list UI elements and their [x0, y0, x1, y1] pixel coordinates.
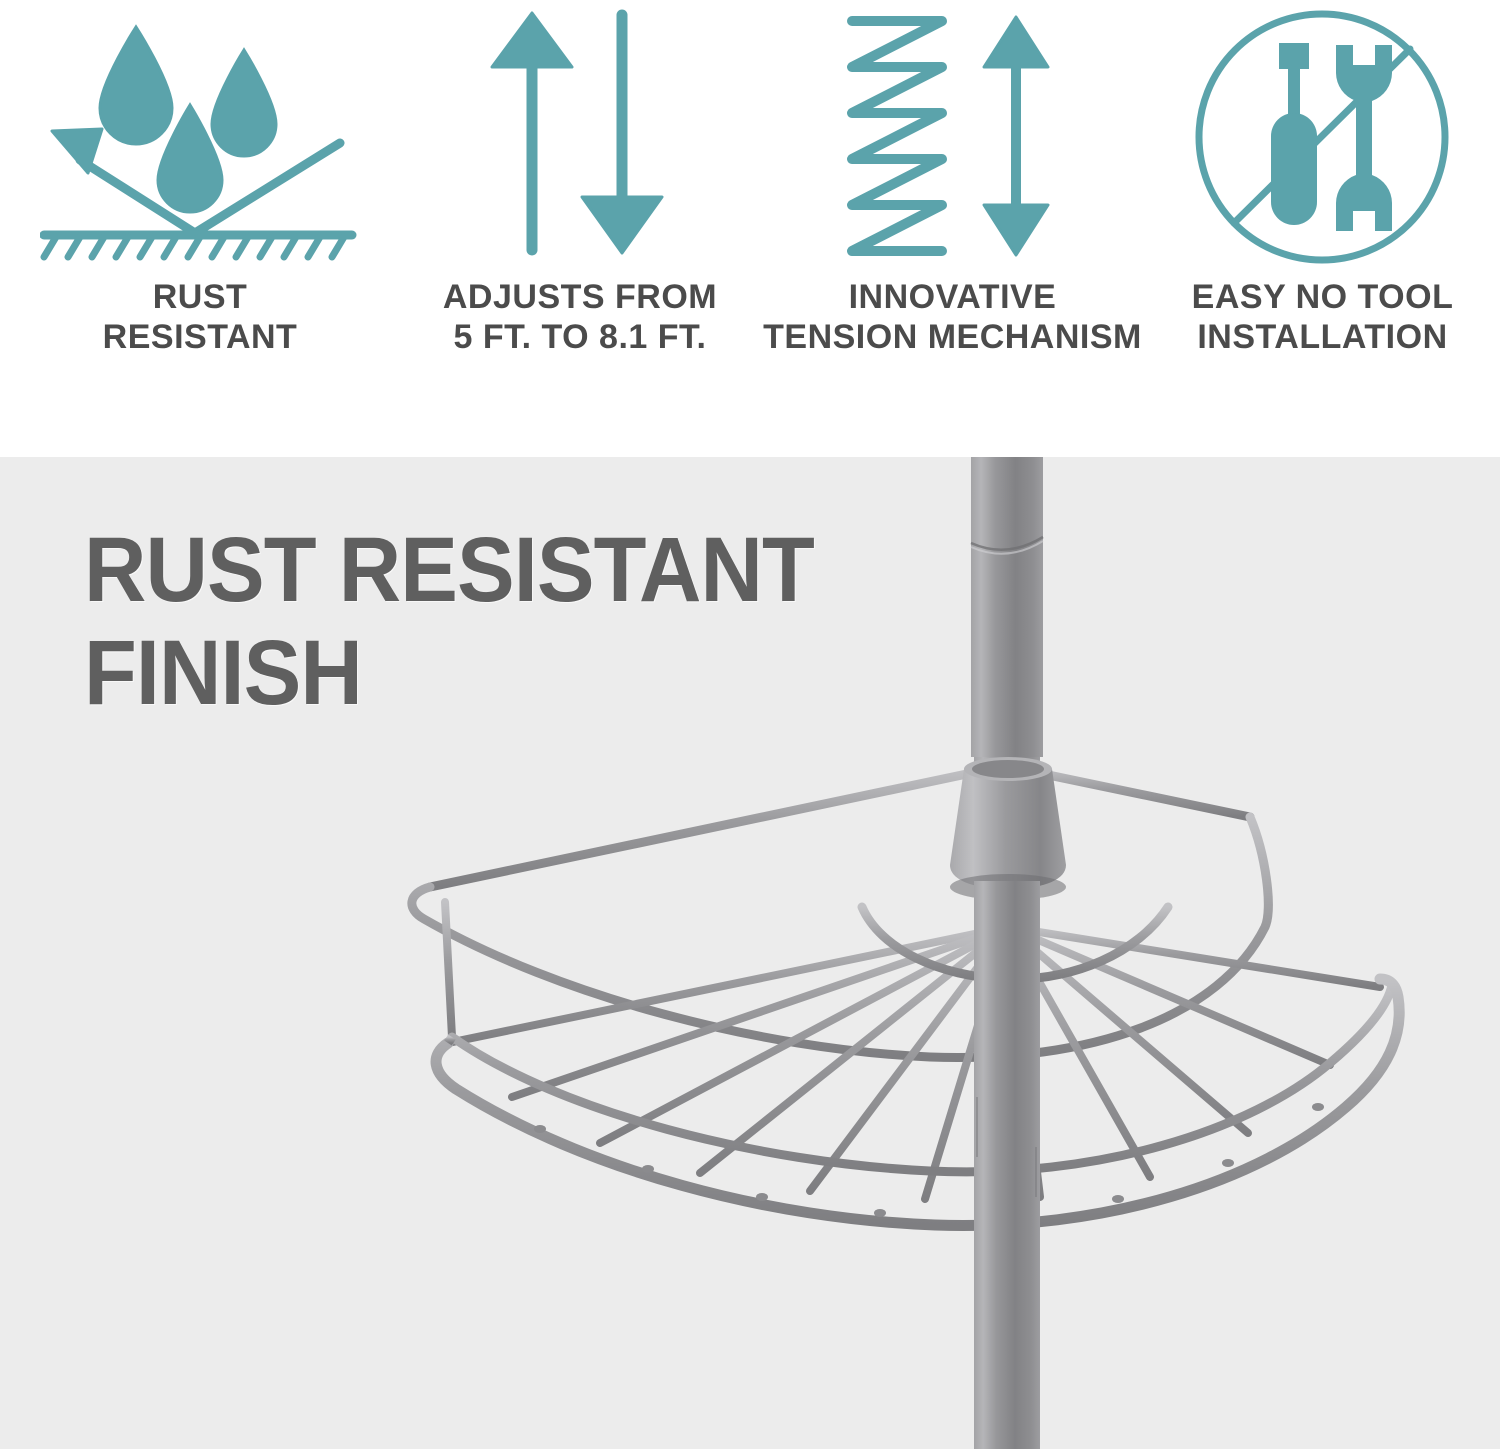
feature-no-tool-installation: EASY NO TOOL INSTALLATION [1145, 0, 1500, 457]
no-tools-icon [1145, 0, 1500, 275]
feature-rust-resistant: RUST RESISTANT [0, 0, 400, 457]
feature-tension-mechanism: INNOVATIVE TENSION MECHANISM [760, 0, 1145, 457]
feature-label: ADJUSTS FROM 5 FT. TO 8.1 FT. [443, 277, 717, 357]
product-infographic: RUST RESISTANT ADJUSTS FROM [0, 0, 1500, 1449]
feature-bar: RUST RESISTANT ADJUSTS FROM [0, 0, 1500, 457]
spring-tension-icon [760, 0, 1145, 275]
product-panel: RUST RESISTANT FINISH [0, 457, 1500, 1449]
page-headline: RUST RESISTANT FINISH [84, 519, 814, 725]
water-droplets-repel-icon [0, 0, 400, 275]
feature-label: EASY NO TOOL INSTALLATION [1192, 277, 1454, 357]
feature-adjustable-height: ADJUSTS FROM 5 FT. TO 8.1 FT. [400, 0, 760, 457]
feature-label: RUST RESISTANT [103, 277, 298, 357]
up-down-arrows-icon [400, 0, 760, 275]
feature-label: INNOVATIVE TENSION MECHANISM [763, 277, 1142, 357]
